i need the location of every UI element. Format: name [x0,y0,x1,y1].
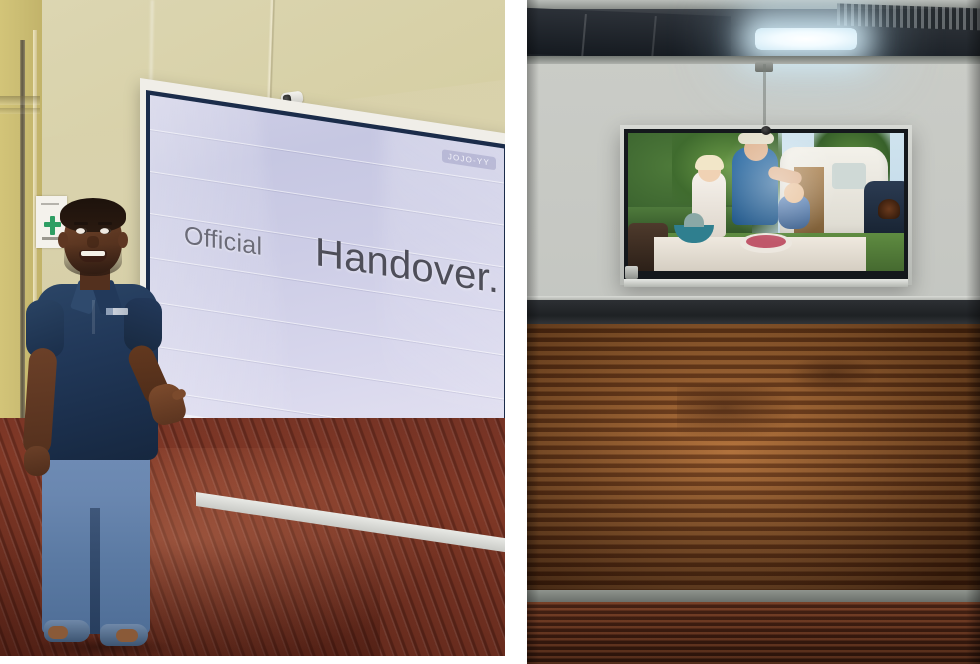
display-screen[interactable] [628,133,904,271]
scene-pizza-oven-mouth [878,199,900,219]
photo-presenter-whiteboard[interactable]: Official Handover. JOJO-YY [0,0,505,656]
ceiling-light-fixture [755,28,857,50]
jeans-inseam [90,508,100,634]
presenter-hand-left [24,446,50,476]
presenter-nose [87,236,99,248]
foot-left [48,626,68,639]
presenter-eye-left [76,228,87,234]
presenter-hair [60,198,126,232]
wooden-slat-counter [527,324,980,606]
shirt-sleeve-right [124,298,162,352]
photo-pair-sheet: Official Handover. JOJO-YY [0,0,980,664]
presenter-eye-right [100,228,111,234]
presenter-ear-left [58,232,68,248]
presenter-eyebrow-right [98,222,112,225]
display-brand-logo-icon [625,266,638,279]
ceiling-air-vent-icon [837,3,980,30]
foot-right [116,629,138,642]
presenter-ear-right [118,232,128,248]
wooden-floor [527,602,980,664]
photo-left-vignette [527,0,539,664]
photo-right-vignette [966,0,980,664]
pillar-band-lower [0,108,40,114]
ceiling-wall-joint [527,56,980,64]
wall-cable [763,64,766,134]
counter-vignette [527,324,980,606]
chest-logo-mark-icon [106,308,113,315]
shirt-placket [92,300,95,334]
pillar-band-upper [0,96,40,105]
presenter [12,196,197,656]
photo-wall-display-counter[interactable] [527,0,980,664]
display-camera-icon [761,126,771,135]
ceiling-duct [527,8,731,63]
presenter-teeth [81,251,105,256]
scene-bowl-lid [684,213,704,227]
wall-mounted-display[interactable] [620,125,912,285]
presenter-eyebrow-left [74,222,88,225]
presenter-mouth [79,250,107,262]
scene-sun-glare [718,133,838,243]
display-bottom-bar [624,279,908,287]
ceiling [527,0,980,62]
floor-plank-texture [527,602,980,664]
